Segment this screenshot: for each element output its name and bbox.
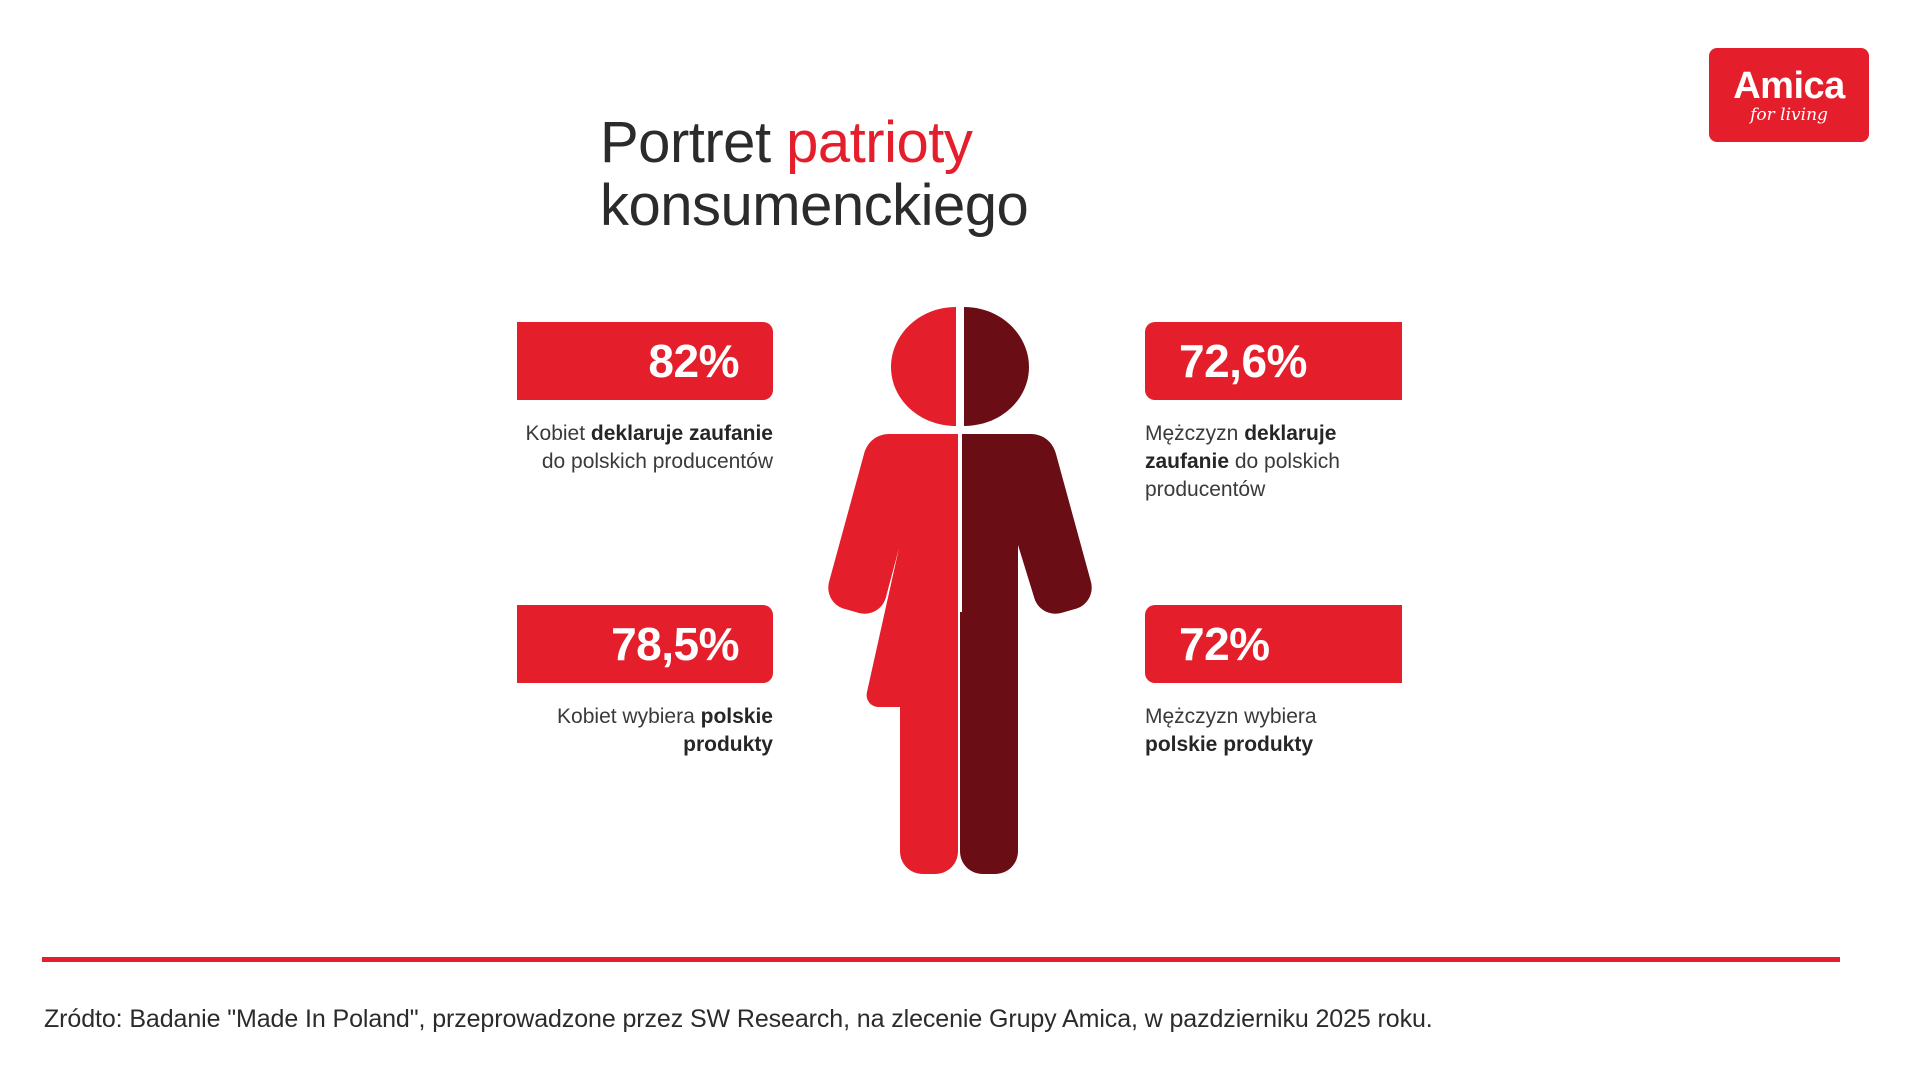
stat-women-buy: 78,5% Kobiet wybiera polskie produkty	[517, 605, 773, 759]
stat-bar-women-buy: 78,5%	[517, 605, 773, 683]
stat-caption-women-trust: Kobiet deklaruje zaufanie do polskich pr…	[517, 420, 773, 476]
logo-wordmark: Amica	[1733, 67, 1845, 105]
stat-bar-men-trust: 72,6%	[1145, 322, 1402, 400]
stat-men-trust: 72,6% Mężczyzn deklaruje zaufanie do pol…	[1145, 322, 1402, 504]
stat-women-trust: 82% Kobiet deklaruje zaufanie do polskic…	[517, 322, 773, 476]
logo-tagline: for living	[1750, 107, 1828, 124]
title-accent: patrioty	[786, 110, 972, 175]
caption-part-plain-1: Kobiet wybiera	[557, 705, 701, 728]
amica-logo: Amica for living	[1709, 48, 1869, 142]
title-line-2: konsumenckiego	[600, 175, 1120, 238]
title-line-1: Portret patrioty	[600, 112, 1120, 175]
infographic-canvas: Amica for living Portret patrioty konsum…	[0, 0, 1920, 1080]
stat-men-buy: 72% Mężczyzn wybiera polskie produkty	[1145, 605, 1402, 759]
stat-value-women-buy: 78,5%	[611, 621, 739, 667]
stat-caption-women-buy: Kobiet wybiera polskie produkty	[517, 703, 773, 759]
footer-divider	[42, 957, 1840, 962]
woman-pictogram-half	[828, 307, 958, 874]
stat-value-men-trust: 72,6%	[1179, 338, 1307, 384]
caption-part-bold: polskie produkty	[1145, 733, 1313, 756]
title-plain: Portret	[600, 110, 786, 175]
gender-split-pictogram	[815, 295, 1105, 875]
stat-caption-men-trust: Mężczyzn deklaruje zaufanie do polskich …	[1145, 420, 1385, 504]
source-note: Zródto: Badanie "Made In Poland", przepr…	[44, 1005, 1433, 1034]
man-pictogram-half	[960, 307, 1092, 874]
stat-bar-men-buy: 72%	[1145, 605, 1402, 683]
stat-caption-men-buy: Mężczyzn wybiera polskie produkty	[1145, 703, 1385, 759]
page-title: Portret patrioty konsumenckiego	[600, 112, 1120, 237]
stat-value-men-buy: 72%	[1179, 621, 1270, 667]
caption-part-plain-1: Kobiet	[526, 422, 591, 445]
caption-part-plain-1: Mężczyzn wybiera	[1145, 705, 1317, 728]
stat-bar-women-trust: 82%	[517, 322, 773, 400]
caption-part-plain-1: Mężczyzn	[1145, 422, 1244, 445]
stat-value-women-trust: 82%	[648, 338, 739, 384]
caption-part-plain-2: do polskich producentów	[542, 450, 773, 473]
caption-part-bold: deklaruje zaufanie	[591, 422, 773, 445]
